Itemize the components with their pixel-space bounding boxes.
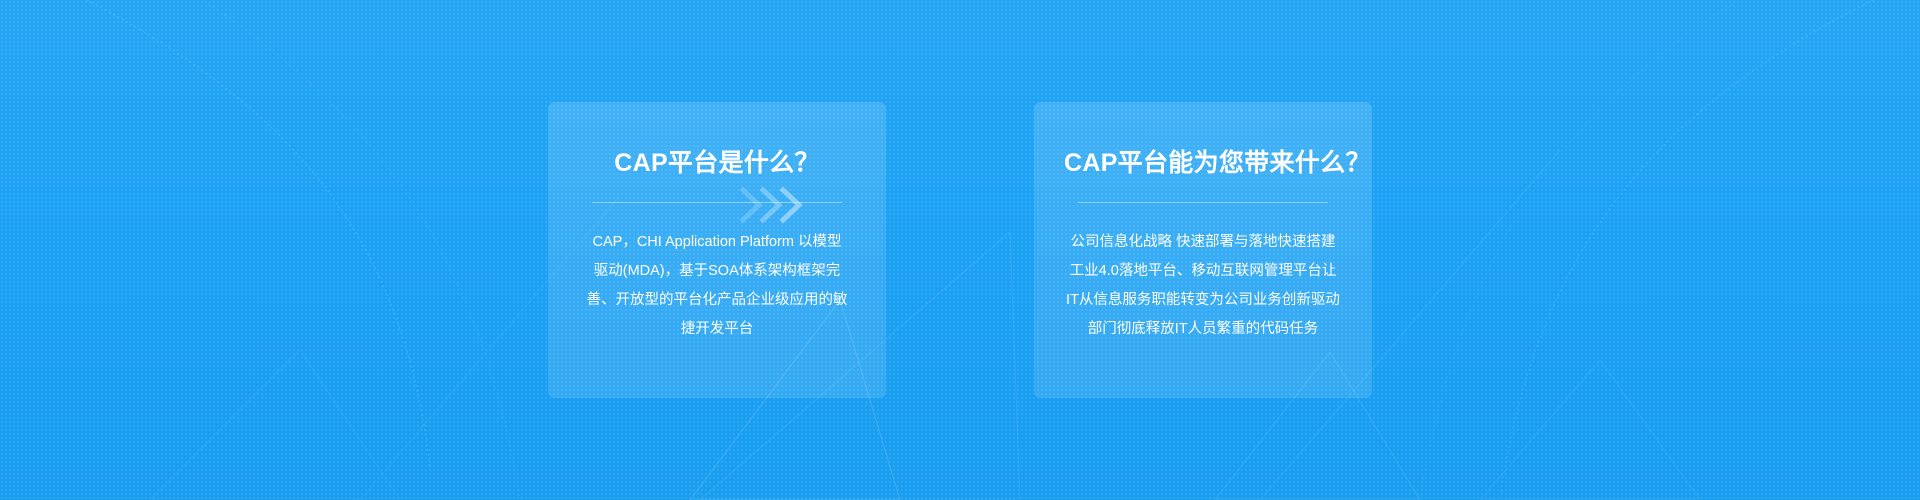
card-title: CAP平台能为您带来什么？ xyxy=(1064,148,1342,178)
body-line: 工业4.0落地平台、移动互联网管理平台让 xyxy=(1064,257,1342,286)
body-line: 驱动(MDA)，基于SOA体系架构框架完 xyxy=(578,257,856,286)
body-line: 部门彻底释放IT人员繁重的代码任务 xyxy=(1064,315,1342,344)
card-what-cap-brings[interactable]: CAP平台能为您带来什么？ 公司信息化战略 快速部署与落地快速搭建 工业4.0落… xyxy=(1034,102,1372,398)
card-title: CAP平台是什么？ xyxy=(578,148,856,178)
card-body: 公司信息化战略 快速部署与落地快速搭建 工业4.0落地平台、移动互联网管理平台让… xyxy=(1064,228,1342,344)
card-what-is-cap[interactable]: CAP平台是什么？ CAP，CHI Application Platform 以… xyxy=(548,102,886,398)
card-body: CAP，CHI Application Platform 以模型 驱动(MDA)… xyxy=(578,228,856,344)
body-line: 捷开发平台 xyxy=(578,315,856,344)
card-divider xyxy=(592,202,842,203)
promo-banner: CAP平台是什么？ CAP，CHI Application Platform 以… xyxy=(0,0,1920,500)
body-line: CAP，CHI Application Platform 以模型 xyxy=(578,228,856,257)
body-line: 公司信息化战略 快速部署与落地快速搭建 xyxy=(1064,228,1342,257)
card-row: CAP平台是什么？ CAP，CHI Application Platform 以… xyxy=(0,0,1920,500)
body-line: IT从信息服务职能转变为公司业务创新驱动 xyxy=(1064,286,1342,315)
body-line: 善、开放型的平台化产品企业级应用的敏 xyxy=(578,286,856,315)
card-divider xyxy=(1078,202,1328,203)
